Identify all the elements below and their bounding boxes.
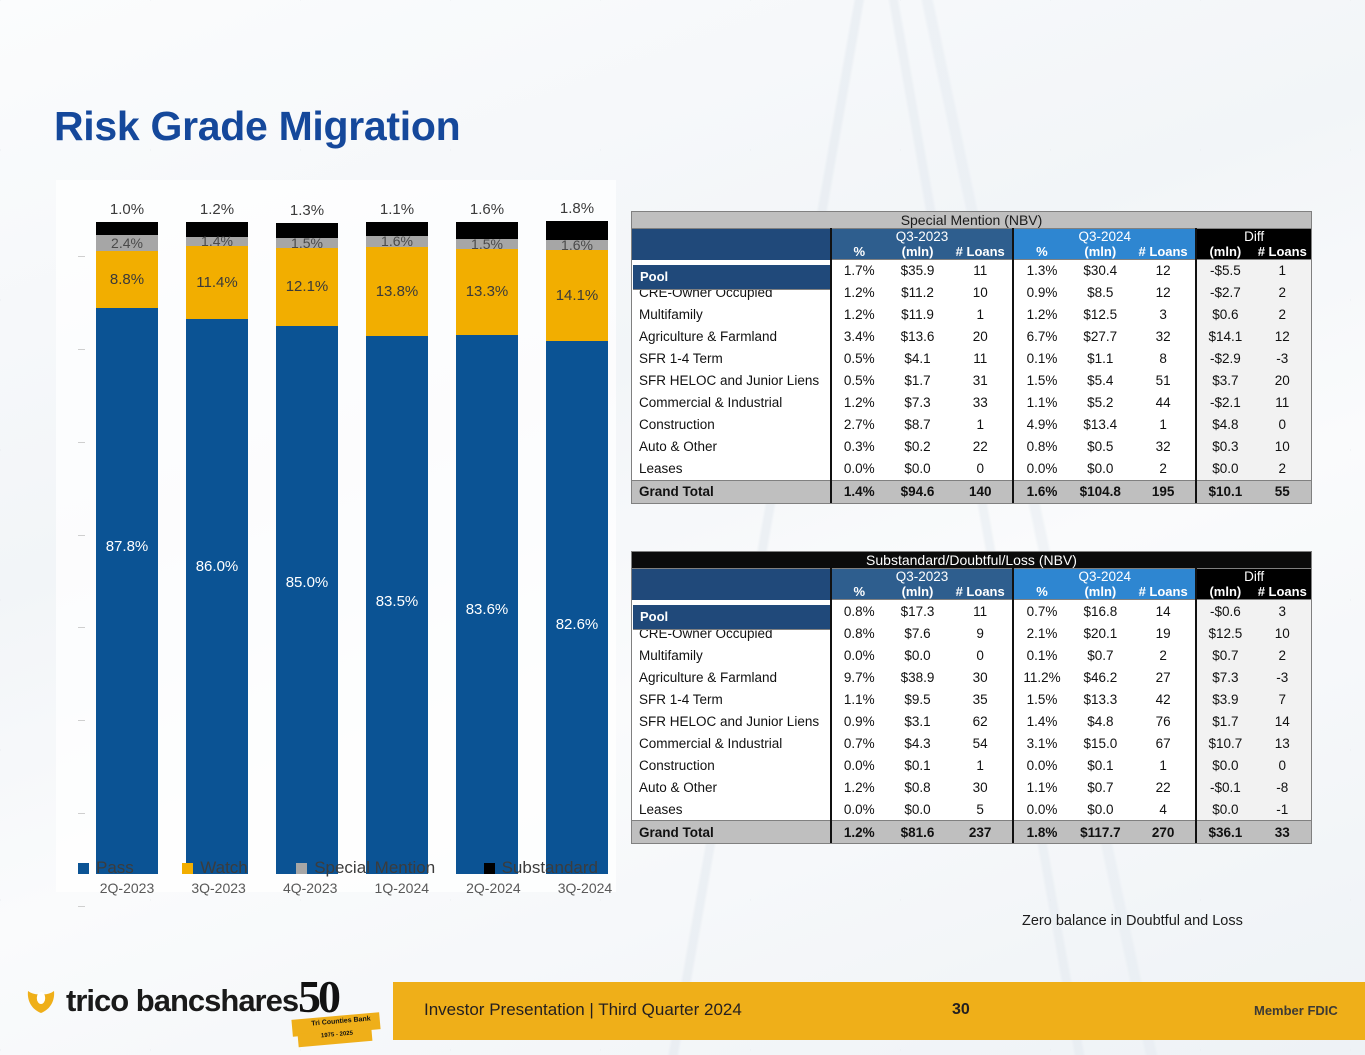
substandard-table: Substandard/Doubtful/Loss (NBV) Q3-2023 … (631, 551, 1312, 844)
total-dl: 33 (1254, 821, 1311, 844)
cell-l23: 11 (948, 348, 1013, 370)
total-m24: $117.7 (1070, 821, 1131, 844)
cell-dm: -$0.6 (1196, 600, 1253, 623)
group-header-q3-2024: Q3-2024 (1013, 229, 1196, 245)
company-logo: trico bancshares (26, 982, 298, 1019)
table-row: Auto & Other0.3%$0.2220.8%$0.532$0.310 (632, 436, 1311, 458)
substandard-value-label: 1.2% (186, 201, 248, 218)
bar-column: 1.6%1.5%13.3%83.6% (456, 222, 518, 874)
cell-m24: $16.8 (1070, 600, 1131, 623)
cell-dm: $14.1 (1196, 326, 1253, 348)
cell-pool: Multifamily (632, 644, 831, 666)
cell-dm: -$5.5 (1196, 260, 1253, 282)
cell-dm: $0.3 (1196, 436, 1253, 458)
cell-p24: 11.2% (1013, 666, 1069, 688)
segment-special-mention: 1.5% (276, 238, 338, 248)
cell-pool: Construction (632, 754, 831, 776)
table-caption: Substandard/Doubtful/Loss (NBV) (632, 552, 1311, 569)
bar-column: 1.8%1.6%14.1%82.6% (546, 222, 608, 874)
fdic-notice: Member FDIC (1254, 1003, 1338, 1018)
cell-pool: Agriculture & Farmland (632, 326, 831, 348)
chart-legend: PassWatchSpecial MentionSubstandard (78, 858, 598, 878)
cell-dm: $1.7 (1196, 710, 1253, 732)
cell-l23: 9 (948, 622, 1013, 644)
cell-l23: 1 (948, 304, 1013, 326)
cell-dl: 1 (1254, 260, 1311, 282)
cell-m23: $3.1 (887, 710, 948, 732)
cell-pool: SFR 1-4 Term (632, 348, 831, 370)
stacked-bar: 1.6%14.1%82.6% (546, 221, 608, 874)
cell-dm: $10.7 (1196, 732, 1253, 754)
x-axis-label: 3Q-2024 (554, 880, 616, 896)
cell-dl: 3 (1254, 600, 1311, 623)
pass-value-label: 86.0% (186, 558, 248, 575)
cell-m24: $4.8 (1070, 710, 1131, 732)
cell-p24: 1.2% (1013, 304, 1069, 326)
legend-item[interactable]: Special Mention (296, 858, 435, 878)
segment-watch: 11.4% (186, 246, 248, 320)
cell-p24: 3.1% (1013, 732, 1069, 754)
cell-m23: $7.6 (887, 622, 948, 644)
segment-special-mention: 1.4% (186, 237, 248, 246)
legend-swatch-icon (296, 863, 307, 874)
cell-l24: 44 (1131, 392, 1196, 414)
total-dm: $10.1 (1196, 480, 1253, 503)
cell-m23: $0.2 (887, 436, 948, 458)
cell-l23: 5 (948, 798, 1013, 821)
slide-canvas: Risk Grade Migration 1.0%2.4%8.8%87.8%1.… (0, 0, 1365, 1055)
segment-pass: 87.8% (96, 308, 158, 874)
cell-l24: 19 (1131, 622, 1196, 644)
col-loans-2024: # Loans (1131, 244, 1196, 260)
table-total-row: Grand Total1.4%$94.61401.6%$104.8195$10.… (632, 480, 1311, 503)
cell-dl: 7 (1254, 688, 1311, 710)
cell-dm: $3.9 (1196, 688, 1253, 710)
cell-m23: $8.7 (887, 414, 948, 436)
cell-p23: 0.8% (831, 622, 887, 644)
cell-dm: -$0.1 (1196, 776, 1253, 798)
pass-value-label: 87.8% (96, 538, 158, 555)
cell-l23: 1 (948, 414, 1013, 436)
segment-pass: 83.5% (366, 336, 428, 875)
cell-p24: 1.5% (1013, 370, 1069, 392)
cell-m24: $0.0 (1070, 458, 1131, 481)
table-row: SFR 1-4 Term0.5%$4.1110.1%$1.18-$2.9-3 (632, 348, 1311, 370)
total-p23: 1.4% (831, 480, 887, 503)
legend-item[interactable]: Watch (182, 858, 248, 878)
cell-p24: 1.4% (1013, 710, 1069, 732)
cell-dl: 10 (1254, 622, 1311, 644)
cell-p23: 0.3% (831, 436, 887, 458)
col-loans-2024: # Loans (1131, 584, 1196, 600)
cell-p23: 1.2% (831, 282, 887, 304)
cell-p24: 1.3% (1013, 260, 1069, 282)
cell-m23: $0.0 (887, 644, 948, 666)
pool-column-header: Pool (633, 605, 830, 630)
cell-p23: 0.5% (831, 348, 887, 370)
segment-watch: 12.1% (276, 248, 338, 326)
cell-m24: $0.7 (1070, 776, 1131, 798)
col-pct-2023: % (831, 584, 887, 600)
cell-p24: 0.0% (1013, 798, 1069, 821)
cell-m24: $5.2 (1070, 392, 1131, 414)
segment-pass: 85.0% (276, 326, 338, 874)
cell-dl: -1 (1254, 798, 1311, 821)
cell-l24: 3 (1131, 304, 1196, 326)
page-title: Risk Grade Migration (54, 103, 460, 150)
x-axis-label: 3Q-2023 (188, 880, 250, 896)
cell-p23: 0.5% (831, 370, 887, 392)
cell-l24: 12 (1131, 260, 1196, 282)
total-dl: 55 (1254, 480, 1311, 503)
group-header-q3-2023: Q3-2023 (831, 229, 1014, 245)
legend-label: Watch (200, 858, 248, 878)
total-dm: $36.1 (1196, 821, 1253, 844)
total-l23: 140 (948, 480, 1013, 503)
cell-p23: 0.0% (831, 754, 887, 776)
table-row: Agriculture & Farmland3.4%$13.6206.7%$27… (632, 326, 1311, 348)
cell-dl: -8 (1254, 776, 1311, 798)
cell-dm: $4.8 (1196, 414, 1253, 436)
cell-pool: Commercial & Industrial (632, 732, 831, 754)
cell-pool: SFR 1-4 Term (632, 688, 831, 710)
cell-l23: 30 (948, 666, 1013, 688)
cell-p23: 0.0% (831, 798, 887, 821)
col-loans-2023: # Loans (948, 584, 1013, 600)
col-pct-2023: % (831, 244, 887, 260)
cell-l24: 2 (1131, 644, 1196, 666)
legend-swatch-icon (78, 863, 89, 874)
cell-p23: 0.0% (831, 458, 887, 481)
cell-l24: 4 (1131, 798, 1196, 821)
cell-p24: 1.1% (1013, 776, 1069, 798)
cell-m24: $0.7 (1070, 644, 1131, 666)
cell-p24: 4.9% (1013, 414, 1069, 436)
cell-dm: $0.0 (1196, 754, 1253, 776)
x-axis-label: 4Q-2023 (279, 880, 341, 896)
cell-l24: 32 (1131, 326, 1196, 348)
group-header-q3-2024: Q3-2024 (1013, 569, 1196, 585)
table-row: Multifamily0.0%$0.000.1%$0.72$0.72 (632, 644, 1311, 666)
cell-p23: 0.7% (831, 732, 887, 754)
x-axis-label: 1Q-2024 (371, 880, 433, 896)
cell-dl: 12 (1254, 326, 1311, 348)
cell-l24: 1 (1131, 754, 1196, 776)
cell-m23: $9.5 (887, 688, 948, 710)
cell-l24: 76 (1131, 710, 1196, 732)
segment-substandard (96, 222, 158, 235)
cell-dm: $3.7 (1196, 370, 1253, 392)
cell-dl: 10 (1254, 436, 1311, 458)
footnote: Zero balance in Doubtful and Loss (1022, 913, 1243, 929)
cell-pool: Auto & Other (632, 436, 831, 458)
cell-m23: $0.0 (887, 798, 948, 821)
stacked-bar: 1.4%11.4%86.0% (186, 222, 248, 874)
col-mln-2024: (mln) (1070, 584, 1131, 600)
cell-m23: $0.0 (887, 458, 948, 481)
cell-m23: $1.7 (887, 370, 948, 392)
total-p23: 1.2% (831, 821, 887, 844)
col-loans-diff: # Loans (1254, 244, 1311, 260)
cell-p24: 0.1% (1013, 348, 1069, 370)
segment-watch: 13.3% (456, 249, 518, 335)
bar-column: 1.2%1.4%11.4%86.0% (186, 222, 248, 874)
cell-p24: 0.0% (1013, 458, 1069, 481)
legend-label: Substandard (502, 858, 598, 878)
cell-p23: 1.2% (831, 304, 887, 326)
cell-m24: $13.3 (1070, 688, 1131, 710)
table-row: SFR 1-4 Term1.1%$9.5351.5%$13.342$3.97 (632, 688, 1311, 710)
cell-m24: $15.0 (1070, 732, 1131, 754)
table-total-row: Grand Total1.2%$81.62371.8%$117.7270$36.… (632, 821, 1311, 844)
cell-dl: 13 (1254, 732, 1311, 754)
legend-item[interactable]: Substandard (484, 858, 598, 878)
cell-dm: $0.0 (1196, 798, 1253, 821)
cell-m23: $35.9 (887, 260, 948, 282)
cell-p24: 6.7% (1013, 326, 1069, 348)
x-axis-label: 2Q-2024 (462, 880, 524, 896)
cell-l23: 54 (948, 732, 1013, 754)
cell-l23: 62 (948, 710, 1013, 732)
special-mention-table: Special Mention (NBV) Q3-2023 Q3-2024 Di… (631, 211, 1312, 504)
table-row: Multifamily1.2%$11.911.2%$12.53$0.62 (632, 304, 1311, 326)
cell-m23: $11.2 (887, 282, 948, 304)
total-pool: Grand Total (632, 480, 831, 503)
cell-pool: Leases (632, 458, 831, 481)
cell-m24: $5.4 (1070, 370, 1131, 392)
col-mln-2023: (mln) (887, 584, 948, 600)
cell-m24: $12.5 (1070, 304, 1131, 326)
cell-m24: $27.7 (1070, 326, 1131, 348)
substandard-value-label: 1.6% (456, 201, 518, 218)
cell-l24: 12 (1131, 282, 1196, 304)
cell-m24: $8.5 (1070, 282, 1131, 304)
anniversary-badge-icon: 50 Tri Counties Bank 1975 - 2025 (292, 972, 382, 1050)
cell-l24: 8 (1131, 348, 1196, 370)
cell-l24: 42 (1131, 688, 1196, 710)
cell-dm: -$2.1 (1196, 392, 1253, 414)
flower-icon (26, 982, 56, 1019)
x-axis-labels: 2Q-20233Q-20234Q-20231Q-20242Q-20243Q-20… (96, 880, 616, 896)
bar-column: 1.1%1.6%13.8%83.5% (366, 222, 428, 874)
cell-l23: 1 (948, 754, 1013, 776)
cell-p23: 0.9% (831, 710, 887, 732)
cell-p23: 0.0% (831, 644, 887, 666)
legend-label: Special Mention (314, 858, 435, 878)
segment-pass: 86.0% (186, 319, 248, 874)
table-row: SFR HELOC and Junior Liens0.5%$1.7311.5%… (632, 370, 1311, 392)
segment-pass: 83.6% (456, 335, 518, 874)
group-header-diff: Diff (1196, 229, 1311, 245)
cell-pool: Agriculture & Farmland (632, 666, 831, 688)
segment-special-mention: 1.5% (456, 239, 518, 249)
cell-l24: 1 (1131, 414, 1196, 436)
segment-special-mention: 1.6% (366, 236, 428, 246)
total-p24: 1.8% (1013, 821, 1069, 844)
table-row: SFR HELOC and Junior Liens0.9%$3.1621.4%… (632, 710, 1311, 732)
badge-number: 50 (298, 970, 338, 1023)
cell-l24: 51 (1131, 370, 1196, 392)
cell-m23: $7.3 (887, 392, 948, 414)
footer-title: Investor Presentation | Third Quarter 20… (424, 1000, 742, 1020)
cell-p24: 0.1% (1013, 644, 1069, 666)
col-loans-2023: # Loans (948, 244, 1013, 260)
cell-p23: 1.1% (831, 688, 887, 710)
table-row: Auto & Other1.2%$0.8301.1%$0.722-$0.1-8 (632, 776, 1311, 798)
total-m23: $81.6 (887, 821, 948, 844)
total-p24: 1.6% (1013, 480, 1069, 503)
substandard-value-label: 1.0% (96, 201, 158, 218)
cell-p23: 1.2% (831, 776, 887, 798)
cell-l24: 27 (1131, 666, 1196, 688)
legend-swatch-icon (182, 863, 193, 874)
cell-dl: 0 (1254, 414, 1311, 436)
stacked-bar: 1.5%12.1%85.0% (276, 223, 338, 874)
cell-dm: $0.0 (1196, 458, 1253, 481)
table-row: Leases0.0%$0.000.0%$0.02$0.02 (632, 458, 1311, 481)
col-mln-diff: (mln) (1196, 584, 1253, 600)
cell-l23: 0 (948, 644, 1013, 666)
legend-item[interactable]: Pass (78, 858, 134, 878)
col-mln-2024: (mln) (1070, 244, 1131, 260)
cell-p24: 0.0% (1013, 754, 1069, 776)
cell-dl: 11 (1254, 392, 1311, 414)
cell-p23: 1.2% (831, 392, 887, 414)
total-m24: $104.8 (1070, 480, 1131, 503)
cell-l24: 14 (1131, 600, 1196, 623)
group-header-q3-2023: Q3-2023 (831, 569, 1014, 585)
cell-m24: $0.1 (1070, 754, 1131, 776)
cell-m23: $17.3 (887, 600, 948, 623)
pass-value-label: 82.6% (546, 616, 608, 633)
legend-label: Pass (96, 858, 134, 878)
cell-dm: $12.5 (1196, 622, 1253, 644)
cell-m24: $20.1 (1070, 622, 1131, 644)
segment-watch: 14.1% (546, 250, 608, 341)
cell-l23: 33 (948, 392, 1013, 414)
cell-dl: 20 (1254, 370, 1311, 392)
cell-p23: 0.8% (831, 600, 887, 623)
cell-l23: 20 (948, 326, 1013, 348)
cell-l23: 35 (948, 688, 1013, 710)
col-mln-2023: (mln) (887, 244, 948, 260)
cell-p23: 1.7% (831, 260, 887, 282)
cell-pool: SFR HELOC and Junior Liens (632, 710, 831, 732)
cell-m24: $0.5 (1070, 436, 1131, 458)
cell-l23: 31 (948, 370, 1013, 392)
table-row: Commercial & Industrial0.7%$4.3543.1%$15… (632, 732, 1311, 754)
cell-m23: $11.9 (887, 304, 948, 326)
chart-bars: 1.0%2.4%8.8%87.8%1.2%1.4%11.4%86.0%1.3%1… (96, 222, 608, 874)
cell-dl: 0 (1254, 754, 1311, 776)
cell-p24: 1.1% (1013, 392, 1069, 414)
total-l24: 270 (1131, 821, 1196, 844)
cell-p24: 0.8% (1013, 436, 1069, 458)
chart-plot-area: 1.0%2.4%8.8%87.8%1.2%1.4%11.4%86.0%1.3%1… (78, 222, 608, 874)
cell-m23: $13.6 (887, 326, 948, 348)
legend-swatch-icon (484, 863, 495, 874)
cell-pool: Multifamily (632, 304, 831, 326)
cell-m24: $0.0 (1070, 798, 1131, 821)
cell-pool: Commercial & Industrial (632, 392, 831, 414)
cell-dl: 14 (1254, 710, 1311, 732)
segment-special-mention: 1.6% (546, 240, 608, 250)
segment-watch: 8.8% (96, 251, 158, 308)
group-header-diff: Diff (1196, 569, 1311, 585)
cell-p23: 9.7% (831, 666, 887, 688)
cell-l24: 22 (1131, 776, 1196, 798)
cell-l24: 32 (1131, 436, 1196, 458)
risk-grade-chart: 1.0%2.4%8.8%87.8%1.2%1.4%11.4%86.0%1.3%1… (56, 180, 616, 892)
x-axis-label: 2Q-2023 (96, 880, 158, 896)
cell-m24: $30.4 (1070, 260, 1131, 282)
substandard-value-label: 1.1% (366, 201, 428, 218)
cell-l23: 0 (948, 458, 1013, 481)
col-mln-diff: (mln) (1196, 244, 1253, 260)
cell-l23: 10 (948, 282, 1013, 304)
logo-wordmark: trico bancshares (66, 983, 298, 1019)
col-loans-diff: # Loans (1254, 584, 1311, 600)
table-row: Construction0.0%$0.110.0%$0.11$0.00 (632, 754, 1311, 776)
pass-value-label: 83.5% (366, 593, 428, 610)
cell-dm: -$2.9 (1196, 348, 1253, 370)
y-axis-ticks (78, 222, 86, 874)
cell-p23: 3.4% (831, 326, 887, 348)
table-caption: Special Mention (NBV) (632, 212, 1311, 229)
table-row: Agriculture & Farmland9.7%$38.93011.2%$4… (632, 666, 1311, 688)
cell-dm: $0.6 (1196, 304, 1253, 326)
segment-pass: 82.6% (546, 341, 608, 874)
col-pct-2024: % (1013, 584, 1069, 600)
total-m23: $94.6 (887, 480, 948, 503)
segment-special-mention: 2.4% (96, 235, 158, 251)
cell-p24: 0.7% (1013, 600, 1069, 623)
cell-pool: Leases (632, 798, 831, 821)
col-pct-2024: % (1013, 244, 1069, 260)
cell-p24: 1.5% (1013, 688, 1069, 710)
cell-dl: -3 (1254, 666, 1311, 688)
cell-dl: -3 (1254, 348, 1311, 370)
cell-dl: 2 (1254, 458, 1311, 481)
pass-value-label: 85.0% (276, 574, 338, 591)
cell-pool: SFR HELOC and Junior Liens (632, 370, 831, 392)
substandard-value-label: 1.8% (546, 200, 608, 217)
cell-dl: 2 (1254, 282, 1311, 304)
cell-m23: $4.1 (887, 348, 948, 370)
stacked-bar: 1.6%13.8%83.5% (366, 222, 428, 874)
bar-column: 1.0%2.4%8.8%87.8% (96, 222, 158, 874)
cell-dm: -$2.7 (1196, 282, 1253, 304)
pool-column-header: Pool (633, 265, 830, 290)
table-row: Leases0.0%$0.050.0%$0.04$0.0-1 (632, 798, 1311, 821)
pass-value-label: 83.6% (456, 601, 518, 618)
cell-l24: 67 (1131, 732, 1196, 754)
segment-watch: 13.8% (366, 247, 428, 336)
stacked-bar: 1.5%13.3%83.6% (456, 222, 518, 874)
cell-l23: 22 (948, 436, 1013, 458)
table-row: Construction2.7%$8.714.9%$13.41$4.80 (632, 414, 1311, 436)
cell-m24: $46.2 (1070, 666, 1131, 688)
total-pool: Grand Total (632, 821, 831, 844)
total-l24: 195 (1131, 480, 1196, 503)
cell-m24: $1.1 (1070, 348, 1131, 370)
cell-l23: 11 (948, 600, 1013, 623)
cell-p24: 2.1% (1013, 622, 1069, 644)
table-row: Commercial & Industrial1.2%$7.3331.1%$5.… (632, 392, 1311, 414)
stacked-bar: 2.4%8.8%87.8% (96, 222, 158, 874)
cell-m24: $13.4 (1070, 414, 1131, 436)
cell-pool: Construction (632, 414, 831, 436)
